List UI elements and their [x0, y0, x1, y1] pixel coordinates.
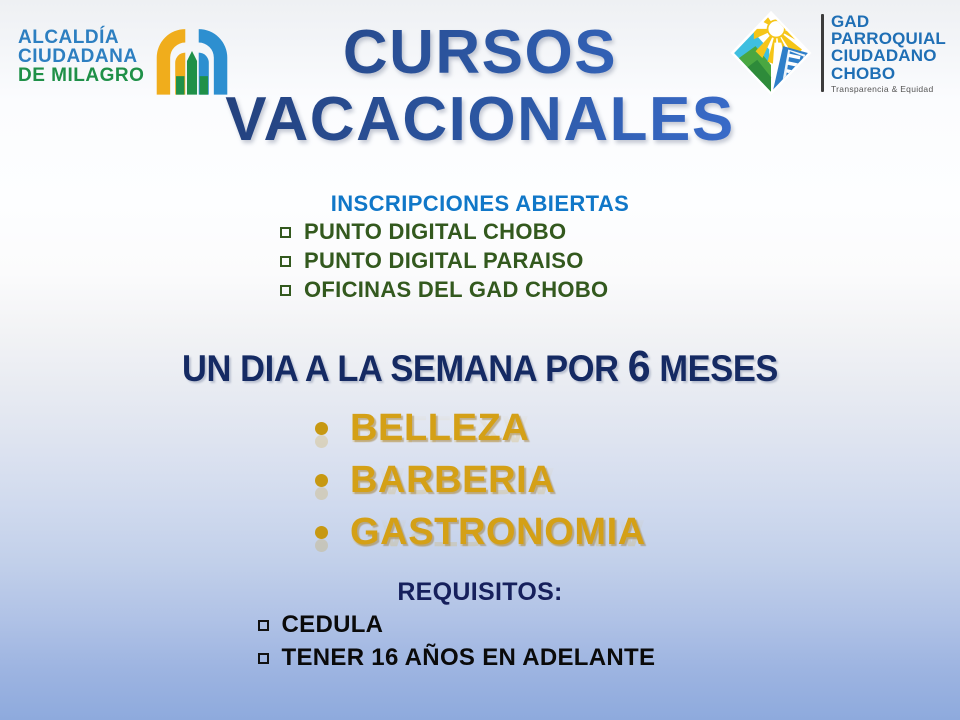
course-name-wrapper: BARBERIA BARBERIA: [350, 461, 555, 499]
course-name-wrapper: BELLEZA BELLEZA: [350, 409, 529, 447]
list-item: PUNTO DIGITAL CHOBO: [280, 217, 680, 246]
course-label: BARBERIA: [350, 459, 555, 501]
requirements-heading: REQUISITOS:: [0, 578, 960, 607]
list-item: BARBERIA BARBERIA: [315, 454, 645, 506]
dot-bullet-icon: [315, 422, 328, 435]
list-item: PUNTO DIGITAL PARAISO: [280, 246, 680, 275]
inscription-location-label: PUNTO DIGITAL PARAISO: [304, 246, 584, 275]
poster-title: CURSOS VACACIONALES: [0, 20, 960, 154]
poster-canvas: ALCALDÍA CIUDADANA DE MILAGRO: [0, 0, 960, 720]
inscription-location-label: OFICINAS DEL GAD CHOBO: [304, 275, 608, 304]
requirement-label: TENER 16 AÑOS EN ADELANTE: [282, 641, 656, 674]
checkbox-bullet-icon: [280, 256, 291, 267]
schedule-text-after: MESES: [650, 348, 778, 389]
checkbox-bullet-icon: [280, 227, 291, 238]
requirements-list: CEDULA TENER 16 AÑOS EN ADELANTE: [0, 608, 960, 674]
requirement-label: CEDULA: [282, 608, 384, 641]
courses-list: BELLEZA BELLEZA BARBERIA BARBERIA GASTRO…: [0, 402, 960, 558]
list-item: CEDULA: [258, 608, 703, 641]
list-item: GASTRONOMIA GASTRONOMIA: [315, 506, 645, 558]
course-label: BELLEZA: [350, 407, 529, 449]
dot-bullet-icon: [315, 526, 328, 539]
dot-bullet-reflection-icon: [315, 435, 328, 448]
list-item: TENER 16 AÑOS EN ADELANTE: [258, 641, 703, 674]
checkbox-bullet-icon: [258, 620, 269, 631]
schedule-text-before: UN DIA A LA SEMANA POR: [182, 348, 628, 389]
schedule-line: UN DIA A LA SEMANA POR 6 MESES: [34, 342, 927, 392]
title-line-cursos: CURSOS: [0, 20, 960, 87]
course-name-wrapper: GASTRONOMIA GASTRONOMIA: [350, 513, 646, 551]
list-item: BELLEZA BELLEZA: [315, 402, 645, 454]
inscriptions-heading: INSCRIPCIONES ABIERTAS: [0, 191, 960, 217]
checkbox-bullet-icon: [280, 285, 291, 296]
inscriptions-list: PUNTO DIGITAL CHOBO PUNTO DIGITAL PARAIS…: [0, 217, 960, 304]
course-label: GASTRONOMIA: [350, 511, 646, 553]
schedule-months-number: 6: [628, 342, 650, 391]
dot-bullet-reflection-icon: [315, 539, 328, 552]
list-item: OFICINAS DEL GAD CHOBO: [280, 275, 680, 304]
checkbox-bullet-icon: [258, 653, 269, 664]
dot-bullet-reflection-icon: [315, 487, 328, 500]
inscription-location-label: PUNTO DIGITAL CHOBO: [304, 217, 566, 246]
dot-bullet-icon: [315, 474, 328, 487]
title-line-vacacionales: VACACIONALES: [0, 87, 960, 154]
